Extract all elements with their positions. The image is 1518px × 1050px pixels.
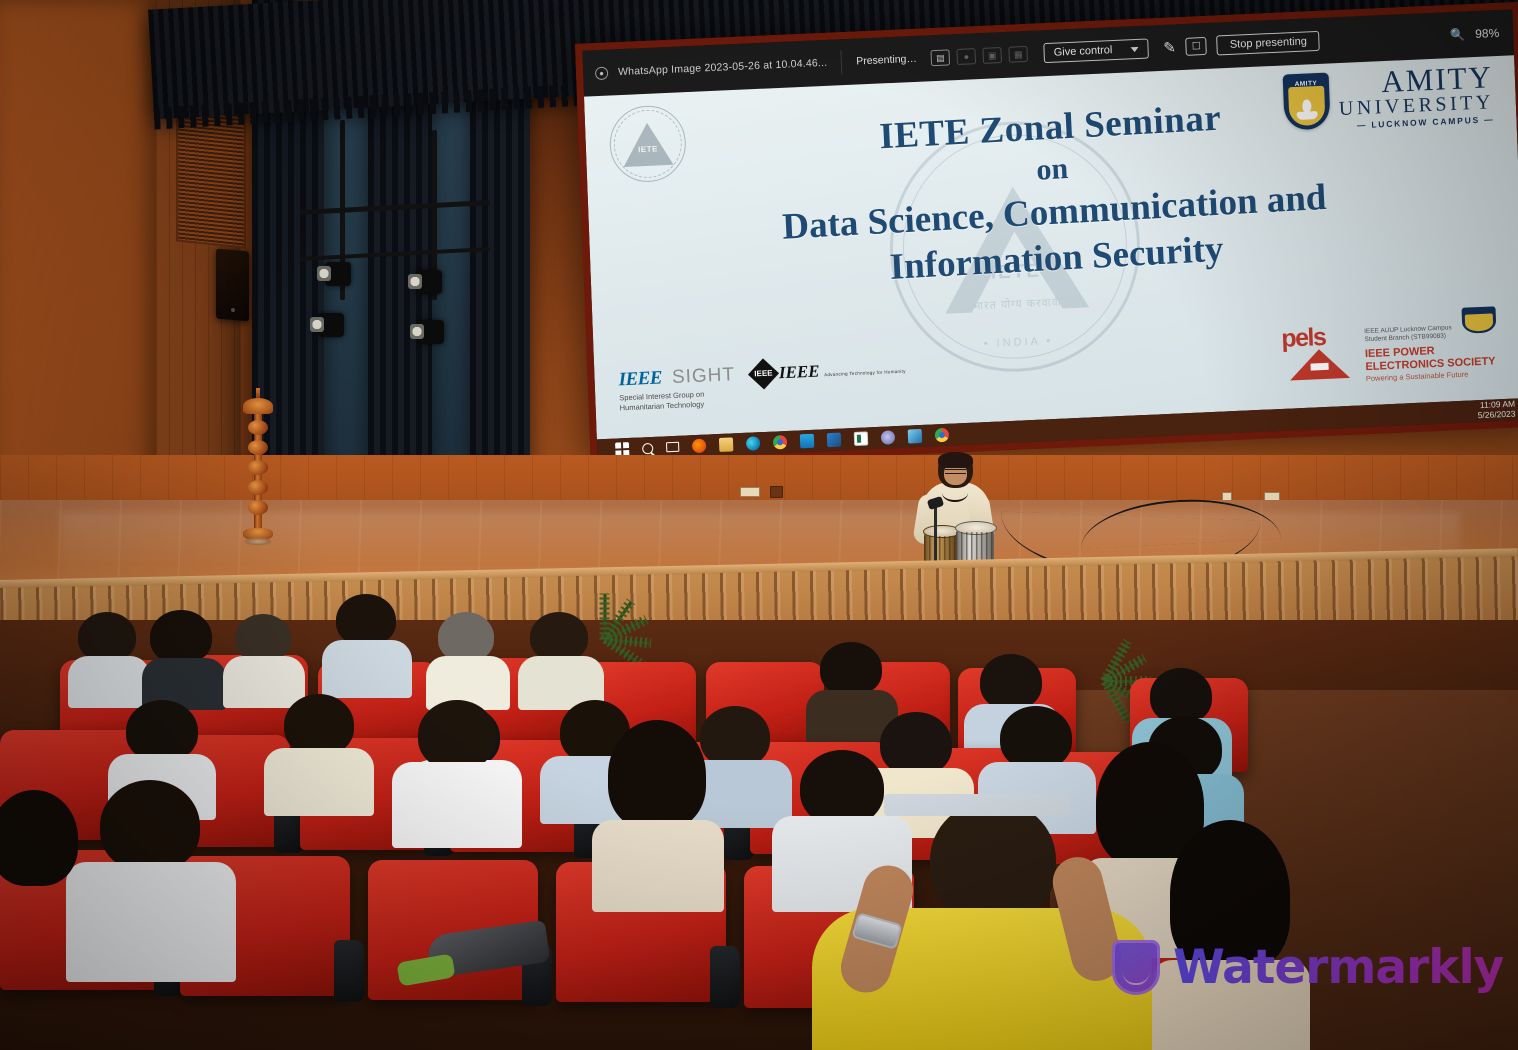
slide-title-block: IETE Zonal Seminar on Data Science, Comm…	[584, 80, 1518, 305]
pels-triangle-icon	[1289, 348, 1350, 381]
presenting-status-label: Presenting…	[856, 53, 917, 68]
person-shirt	[68, 656, 150, 708]
person-head	[530, 612, 588, 662]
give-control-dropdown[interactable]: Give control	[1043, 39, 1148, 64]
paint-icon[interactable]	[908, 429, 923, 444]
screen-share-icon[interactable]: ☐	[1186, 37, 1208, 56]
lamp-bowl	[243, 398, 273, 414]
slide-canvas: IETE भारत योग्य करवावी • INDIA • AMITY A…	[584, 55, 1518, 439]
store-icon[interactable]	[827, 433, 842, 448]
person-head	[150, 610, 212, 664]
glasses-icon	[945, 469, 966, 474]
pels-text: IEEE AUUP Lucknow Campus Student Branch …	[1364, 318, 1496, 383]
taskbar-clock[interactable]: 11:09 AM 5/26/2023	[1477, 399, 1518, 421]
wall-outlet-2	[770, 486, 783, 498]
pels-mark: pels	[1281, 324, 1357, 381]
share-screen-icon[interactable]: ▤	[931, 49, 951, 66]
ceremonial-lamp	[243, 392, 273, 552]
person-shirt	[592, 820, 724, 912]
mic-icon[interactable]: ●	[957, 48, 977, 65]
person-head	[800, 750, 884, 826]
person-head	[1170, 820, 1290, 970]
file-explorer-icon[interactable]	[719, 437, 734, 452]
give-control-label: Give control	[1054, 44, 1113, 59]
ieee-sight-word: SIGHT	[672, 365, 736, 388]
firefox-icon[interactable]	[692, 439, 707, 454]
stage-light-1	[325, 262, 351, 286]
person-shirt	[223, 656, 305, 708]
pen-icon[interactable]: ✎	[1163, 40, 1176, 56]
stage-light-4	[418, 320, 444, 344]
smartphone	[884, 794, 1070, 816]
pels-wordmark: pels	[1281, 324, 1356, 350]
person-head	[284, 694, 354, 756]
person-shirt	[1152, 960, 1310, 1050]
performer-necklace	[942, 484, 968, 502]
search-icon[interactable]	[642, 442, 653, 453]
person-head	[608, 720, 706, 830]
chrome-icon[interactable]	[773, 435, 788, 450]
person-head	[336, 594, 396, 646]
mail-icon[interactable]	[800, 434, 815, 449]
ieee-mark-tagline: Advancing Technology for Humanity	[824, 369, 906, 378]
teams-icon[interactable]	[881, 430, 896, 445]
person-shirt	[66, 862, 236, 982]
performer-hair	[938, 452, 973, 468]
person-shirt	[392, 762, 522, 848]
watermark-hindi-text: भारत योग्य करवावी	[972, 295, 1062, 314]
lamp-bead-1	[248, 420, 268, 435]
person-head	[235, 614, 291, 662]
person-head	[78, 612, 136, 662]
toolbar-right-group[interactable]: 🔍 98%	[1450, 25, 1513, 42]
layout-icon[interactable]: ▦	[1008, 46, 1028, 63]
person-head	[930, 800, 1056, 920]
magnifier-icon[interactable]: 🔍	[1450, 27, 1465, 42]
person-shirt	[264, 748, 374, 816]
lamp-bead-4	[248, 480, 268, 495]
person-head	[700, 706, 770, 768]
projection-screen: ● WhatsApp Image 2023-05-26 at 10.04.46.…	[575, 2, 1518, 469]
person-head	[980, 654, 1042, 710]
wall-outlet-1	[740, 487, 760, 497]
chrome-icon-2[interactable]	[935, 428, 950, 443]
person-head	[820, 642, 882, 696]
person-shirt	[322, 640, 412, 698]
person-head	[880, 712, 952, 776]
toolbar-icon-group[interactable]: ▤ ● ▣ ▦	[931, 46, 1029, 66]
stage-light-2	[416, 270, 442, 294]
record-icon[interactable]: ●	[595, 66, 608, 80]
chevron-down-icon[interactable]	[1130, 46, 1138, 51]
lamp-bead-3	[248, 460, 268, 475]
stage-light-3	[318, 313, 344, 337]
auditorium-photo: ● WhatsApp Image 2023-05-26 at 10.04.46.…	[0, 0, 1518, 1050]
lamp-foot	[245, 538, 271, 545]
person-head	[418, 700, 496, 770]
person-head	[126, 700, 198, 762]
person-head	[438, 612, 494, 662]
excel-icon[interactable]	[854, 431, 869, 446]
student-branch-shield-icon	[1461, 306, 1496, 333]
pels-logo-block: pels IEEE AUUP Lucknow Campus Student Br…	[1281, 318, 1496, 387]
lamp-bead-5	[248, 500, 268, 515]
file-name-label: WhatsApp Image 2023-05-26 at 10.04.46...	[618, 57, 828, 78]
toolbar-divider	[841, 50, 843, 74]
wall-speaker	[216, 249, 249, 322]
camera-icon[interactable]: ▣	[983, 47, 1003, 64]
ieee-diamond-icon: IEEE	[748, 359, 779, 390]
ieee-mark-text: IEEE Advancing Technology for Humanity	[779, 359, 906, 383]
clock-date: 5/26/2023	[1478, 410, 1516, 421]
task-view-icon[interactable]	[666, 442, 679, 453]
ieee-mark-brand: IEEE	[779, 362, 820, 383]
ieee-sight-logo: IEEE SIGHT IEEE IEEE Advancing Technolog…	[618, 357, 907, 412]
zoom-level-label[interactable]: 98%	[1475, 26, 1500, 41]
person-head	[1000, 706, 1072, 770]
edge-icon[interactable]	[746, 436, 761, 451]
ieee-sight-brand: IEEE	[618, 369, 662, 391]
person-head	[100, 780, 200, 872]
screen-surface: ● WhatsApp Image 2023-05-26 at 10.04.46.…	[582, 9, 1518, 461]
lamp-bead-2	[248, 440, 268, 455]
watermark-country: • INDIA •	[984, 335, 1054, 350]
stop-presenting-button[interactable]: Stop presenting	[1216, 31, 1320, 56]
